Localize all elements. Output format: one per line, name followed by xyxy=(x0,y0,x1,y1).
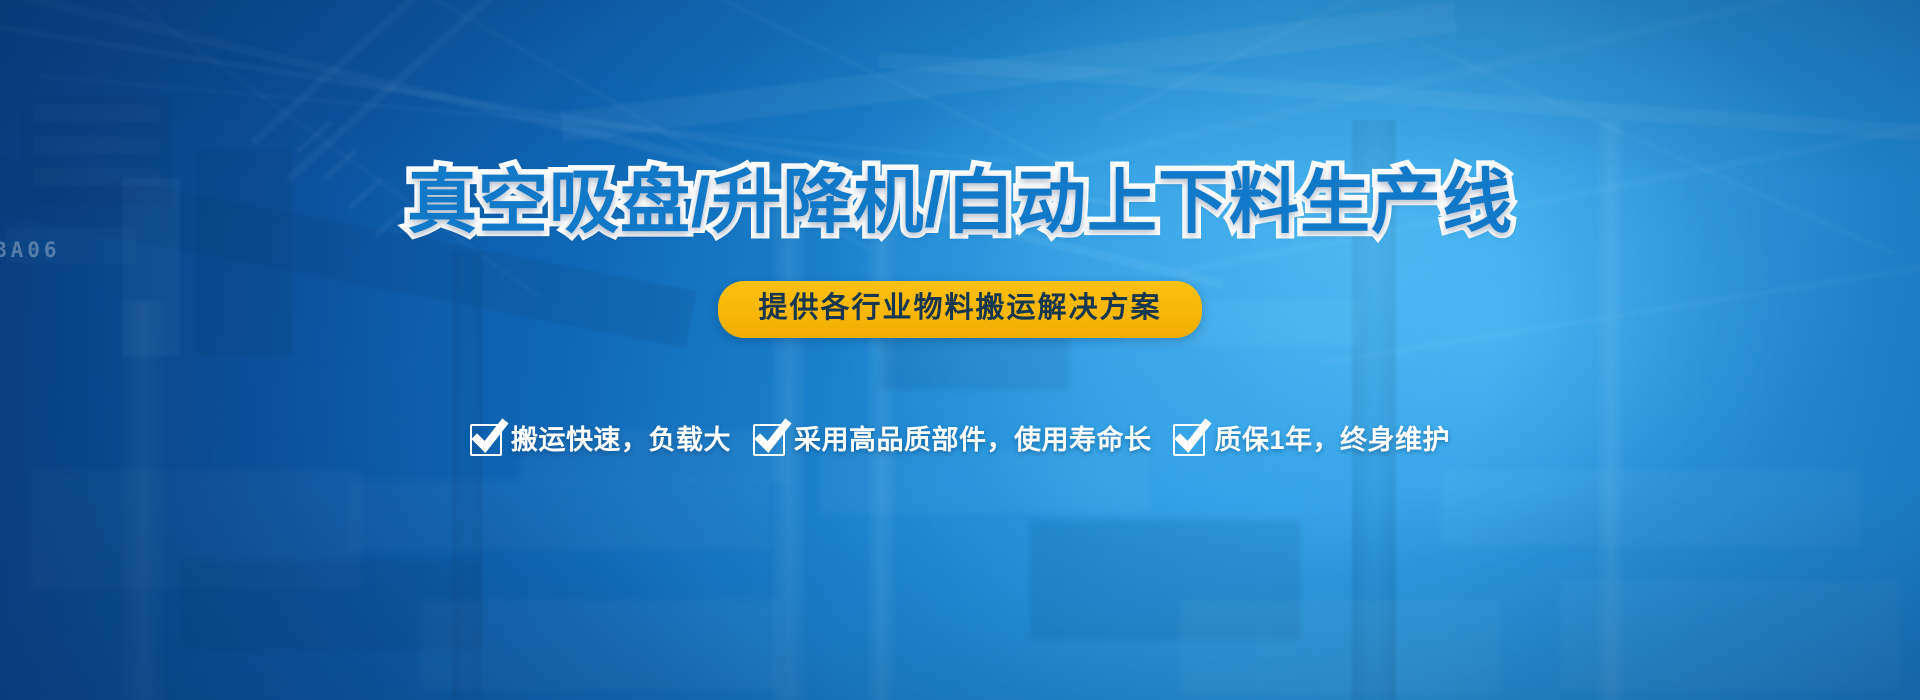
feature-label: 质保1年，终身维护 xyxy=(1214,427,1450,454)
checkbox-check-icon xyxy=(1173,424,1205,456)
feature-item: 质保1年，终身维护 xyxy=(1173,424,1450,456)
feature-item: 搬运快速，负载大 xyxy=(470,424,731,456)
banner-content: 真空吸盘/升降机/自动上下料生产线 提供各行业物料搬运解决方案 搬运快速，负载大 xyxy=(0,0,1920,700)
banner-headline: 真空吸盘/升降机/自动上下料生产线 xyxy=(0,167,1920,237)
banner-feature-list: 搬运快速，负载大 采用高品质部件，使用寿命长 质保1年，终身维护 xyxy=(0,424,1920,456)
banner-badge-row: 提供各行业物料搬运解决方案 xyxy=(0,281,1920,338)
checkbox-check-icon xyxy=(470,424,502,456)
hero-banner: BA06 真空吸盘/升降机/自动上下料生产线 提供各行业物料搬运解决方案 搬运快… xyxy=(0,0,1920,700)
banner-subtitle-badge: 提供各行业物料搬运解决方案 xyxy=(718,281,1201,338)
feature-label: 搬运快速，负载大 xyxy=(511,427,731,454)
checkbox-check-icon xyxy=(753,424,785,456)
feature-item: 采用高品质部件，使用寿命长 xyxy=(753,424,1152,456)
feature-label: 采用高品质部件，使用寿命长 xyxy=(794,427,1152,454)
